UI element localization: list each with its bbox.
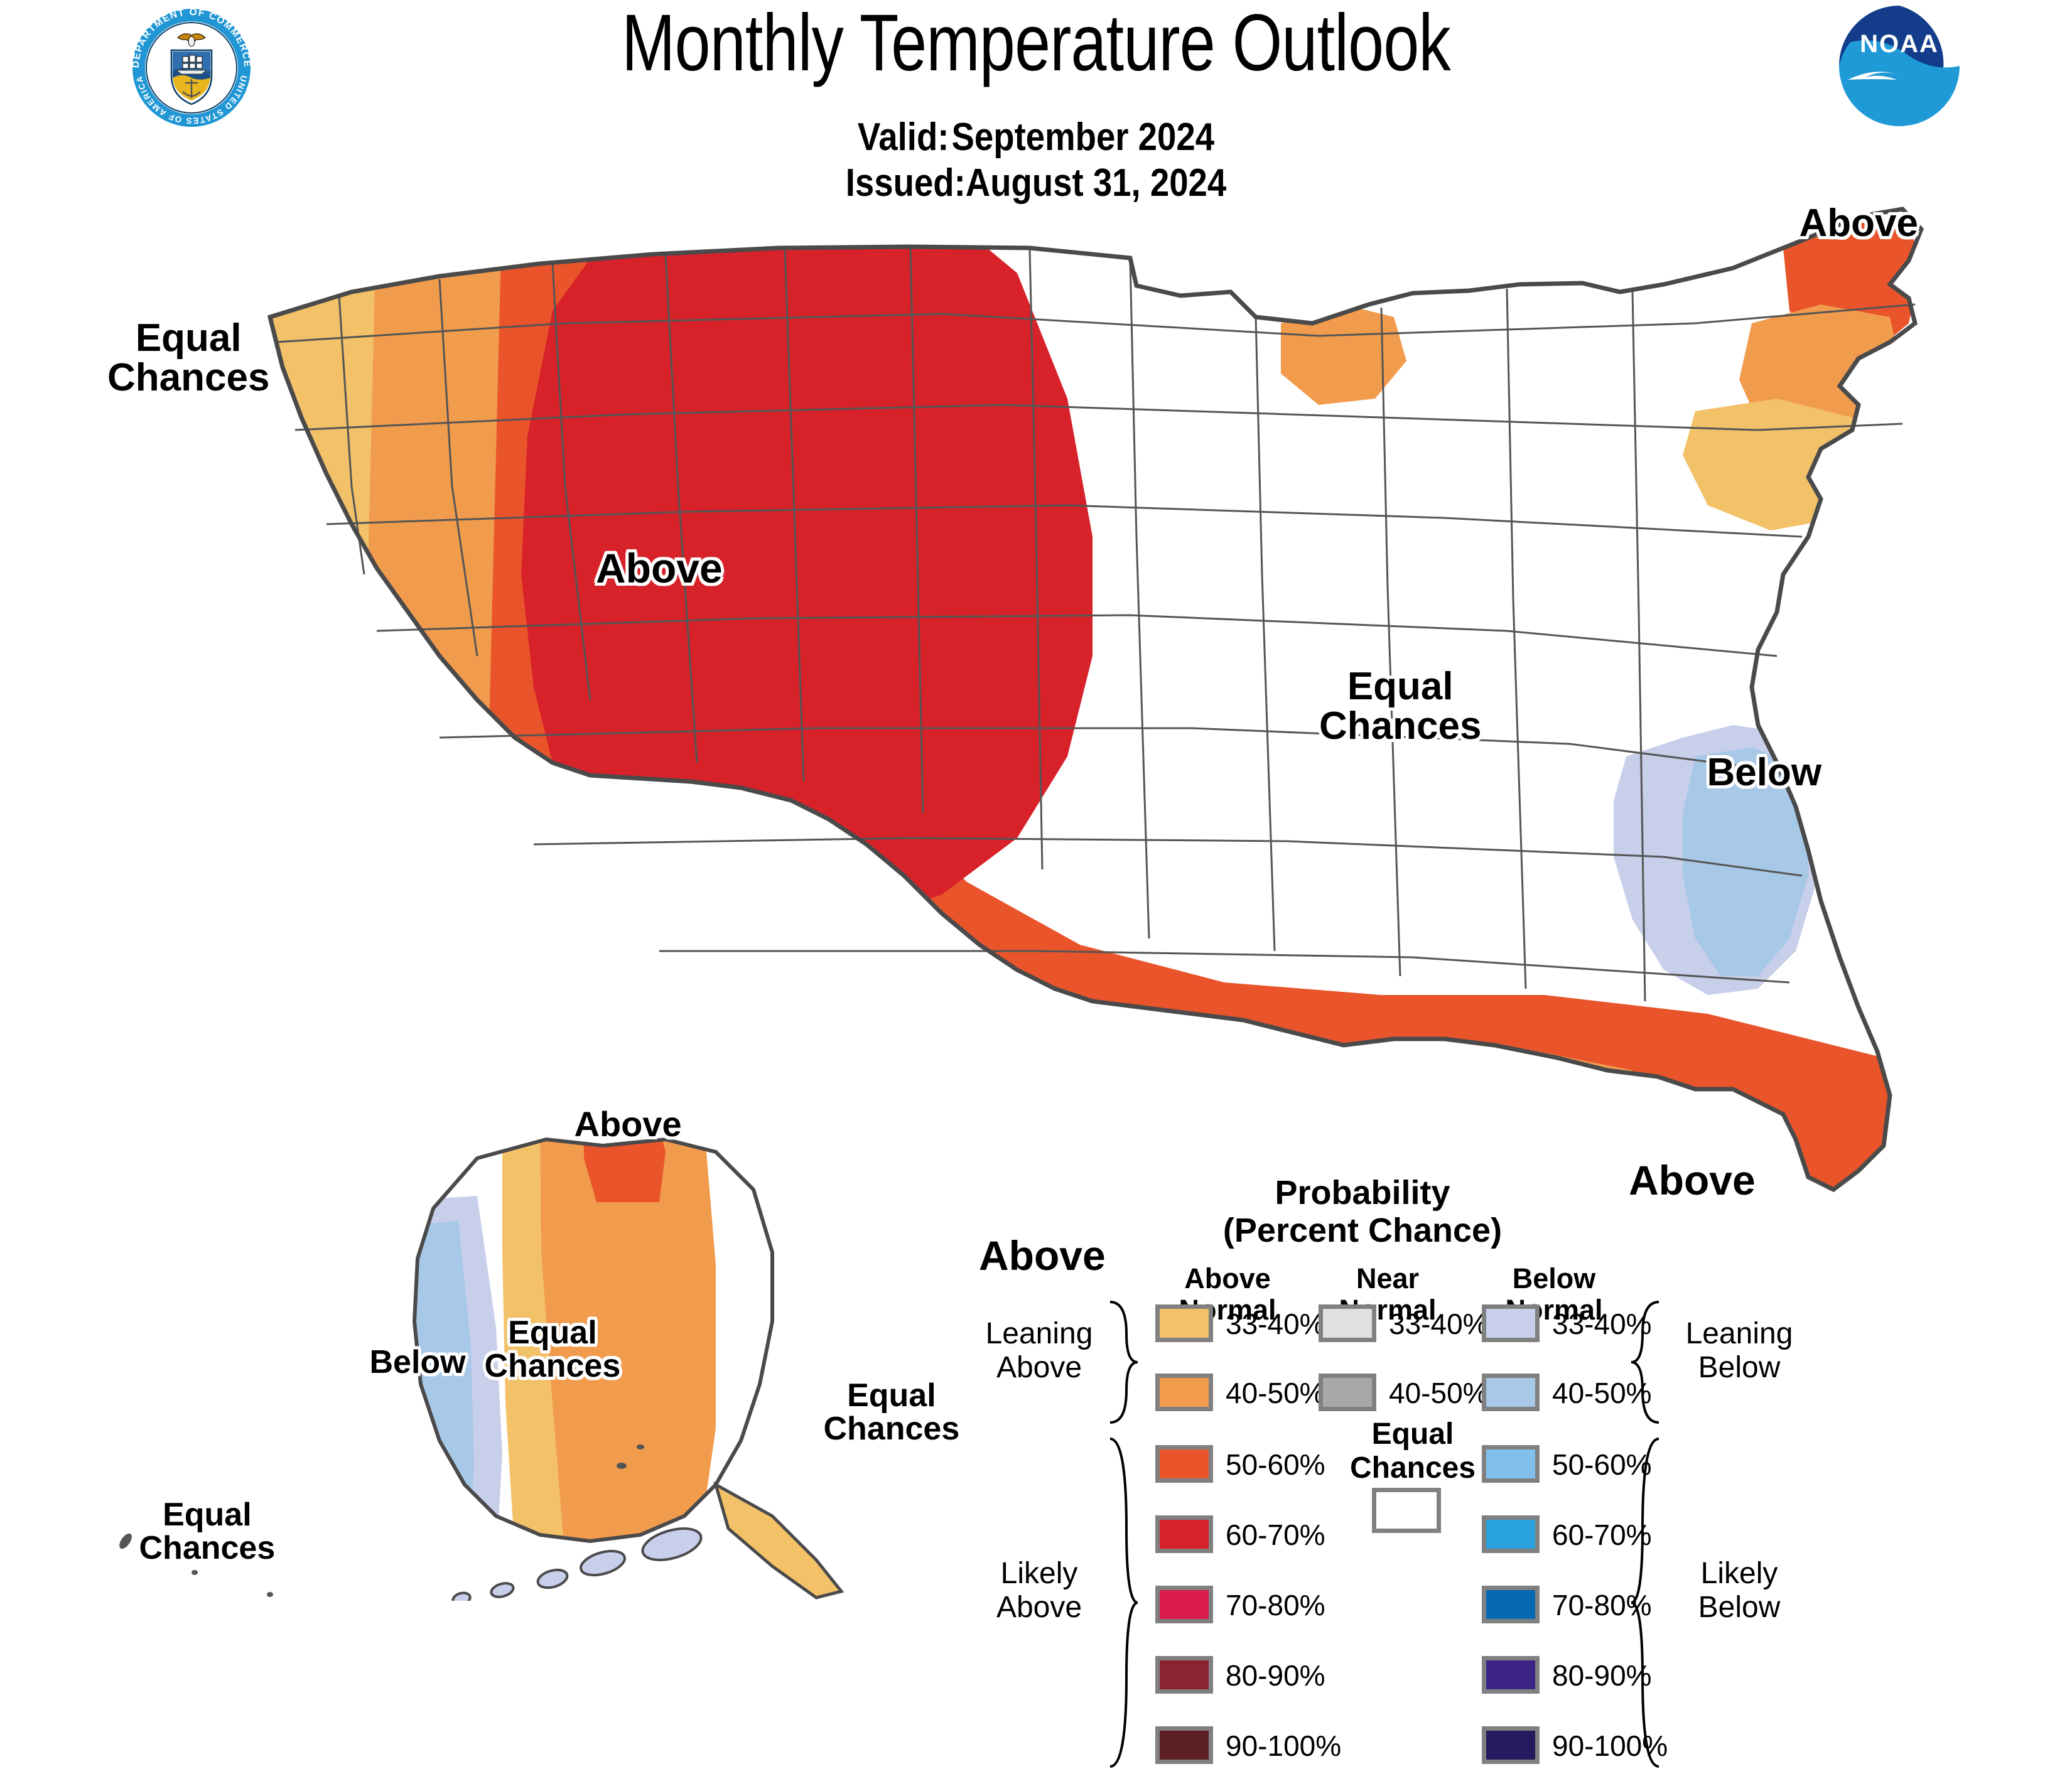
below-normal-swatch-80to90: [1482, 1656, 1540, 1694]
legend-title-line1: Probability: [1168, 1174, 1557, 1212]
above-normal-swatch-90to100: [1155, 1726, 1213, 1764]
map-label-alaska-below: Below: [370, 1346, 466, 1379]
noaa-wordmark: NOAA: [1860, 30, 1939, 58]
probability-legend: Probability (Percent Chance) Above Norma…: [979, 1174, 1909, 1588]
above-normal-swatch-80to90: [1155, 1656, 1213, 1694]
below-normal-swatch-33to40: [1482, 1304, 1540, 1342]
map-label-east-equal-chances: EqualChances: [1319, 667, 1481, 746]
below-normal-swatch-50to60: [1482, 1445, 1540, 1483]
legend-group-likely-below: LikelyBelow: [1667, 1557, 1811, 1625]
below-normal-swatch-90to100: [1482, 1726, 1540, 1764]
map-label-northeast-above: Above: [1800, 203, 1918, 243]
map-label-aleutian-equal-chances: EqualChances: [139, 1498, 276, 1565]
brace-likely-below: [1626, 1436, 1664, 1769]
brace-leaning-below: [1626, 1299, 1664, 1425]
above-normal-swatch-50to60: [1155, 1445, 1213, 1483]
legend-equal-chances-label: EqualChances: [1337, 1417, 1488, 1485]
below-normal-swatch-40to50: [1482, 1374, 1540, 1411]
map-label-midatlantic-below: Below: [1707, 753, 1822, 792]
legend-title: Probability (Percent Chance): [1168, 1174, 1557, 1250]
page-title: Monthly Temperature Outlook: [207, 1, 1865, 85]
near-normal-swatch-33to40: [1319, 1304, 1376, 1342]
above-normal-label-90to100: 90-100%: [1226, 1729, 1341, 1763]
legend-equal-chances-swatch: [1372, 1488, 1441, 1533]
above-normal-swatch-33to40: [1155, 1304, 1213, 1342]
map-label-alaska-equal-chances: EqualChances: [485, 1316, 621, 1383]
near-normal-label-33to40: 33-40%: [1389, 1307, 1489, 1341]
above-normal-label-80to90: 80-90%: [1226, 1659, 1325, 1692]
legend-group-likely-above: LikelyAbove: [973, 1557, 1105, 1625]
legend-col-below-line1: Below: [1476, 1263, 1632, 1294]
above-normal-swatch-60to70: [1155, 1515, 1213, 1553]
near-normal-swatch-40to50: [1319, 1374, 1376, 1411]
above-normal-label-50to60: 50-60%: [1226, 1448, 1325, 1481]
legend-col-near-line1: Near: [1309, 1263, 1466, 1294]
map-label-alaska-above: Above: [575, 1106, 682, 1142]
above-normal-label-60to70: 60-70%: [1226, 1518, 1325, 1552]
legend-col-above-line1: Above: [1149, 1263, 1306, 1294]
above-normal-swatch-40to50: [1155, 1374, 1213, 1411]
map-label-central-above: Above: [596, 547, 723, 589]
brace-leaning-above: [1105, 1299, 1143, 1425]
below-normal-swatch-70to80: [1482, 1586, 1540, 1623]
brace-likely-above: [1105, 1436, 1143, 1769]
above-normal-label-40to50: 40-50%: [1226, 1376, 1325, 1410]
below-normal-swatch-60to70: [1482, 1515, 1540, 1553]
near-normal-label-40to50: 40-50%: [1389, 1376, 1489, 1410]
map-label-west-equal-chances: EqualChances: [107, 318, 269, 397]
legend-group-leaning-above: LeaningAbove: [973, 1317, 1105, 1385]
above-normal-label-70to80: 70-80%: [1226, 1588, 1325, 1622]
above-normal-swatch-70to80: [1155, 1586, 1213, 1623]
legend-title-line2: (Percent Chance): [1168, 1212, 1557, 1249]
map-label-southeast-ak-equal: EqualChances: [824, 1379, 960, 1446]
above-normal-label-33to40: 33-40%: [1226, 1307, 1325, 1341]
legend-group-leaning-below: LeaningBelow: [1667, 1317, 1811, 1385]
